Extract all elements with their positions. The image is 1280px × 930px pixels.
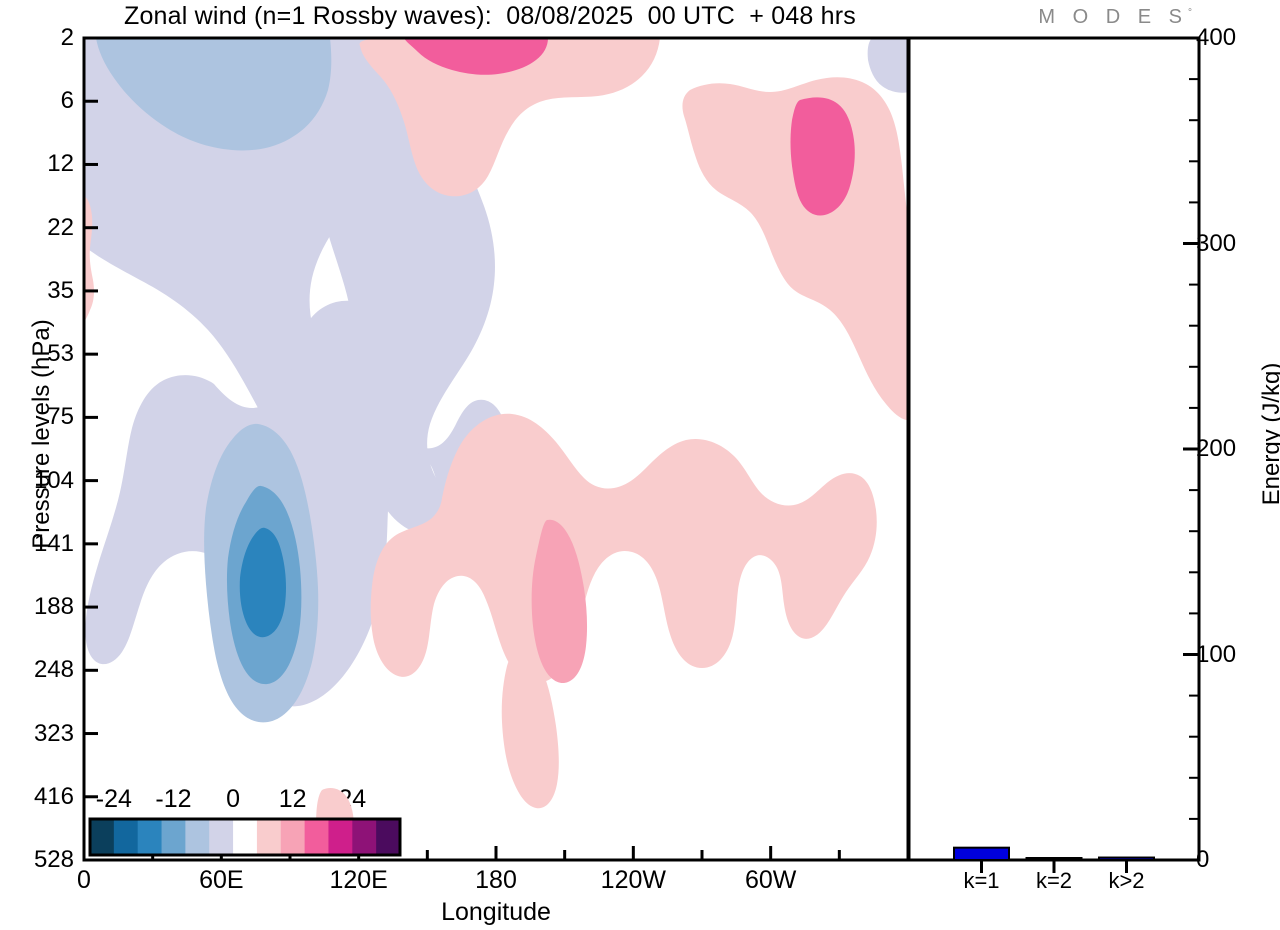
colorbar-swatch (90, 819, 114, 855)
colorbar-swatch (281, 819, 305, 855)
bar-axis-ticks (982, 860, 1127, 873)
energy-bar-group (954, 848, 1154, 860)
colorbar-swatch (305, 819, 329, 855)
energy-bar (1099, 858, 1154, 860)
contour-neg4-top-right-corner (868, 38, 908, 93)
energy-bar (954, 848, 1009, 860)
energy-bar (1027, 858, 1082, 860)
contour-pos8-eastern-strat-core (791, 97, 855, 215)
colorbar-swatch (376, 819, 400, 855)
colorbar-swatch (162, 819, 186, 855)
colorbar (90, 819, 401, 855)
colorbar-swatch (185, 819, 209, 855)
colorbar-swatch (138, 819, 162, 855)
colorbar-swatch (114, 819, 138, 855)
colorbar-swatch (352, 819, 376, 855)
contour-field (84, 38, 908, 856)
colorbar-swatch (257, 819, 281, 855)
colorbar-swatch (328, 819, 352, 855)
colorbar-swatch (209, 819, 233, 855)
zonal-wind-cross-section (0, 0, 1280, 930)
bar-panel-frame (909, 38, 1199, 860)
colorbar-swatch (233, 819, 257, 855)
